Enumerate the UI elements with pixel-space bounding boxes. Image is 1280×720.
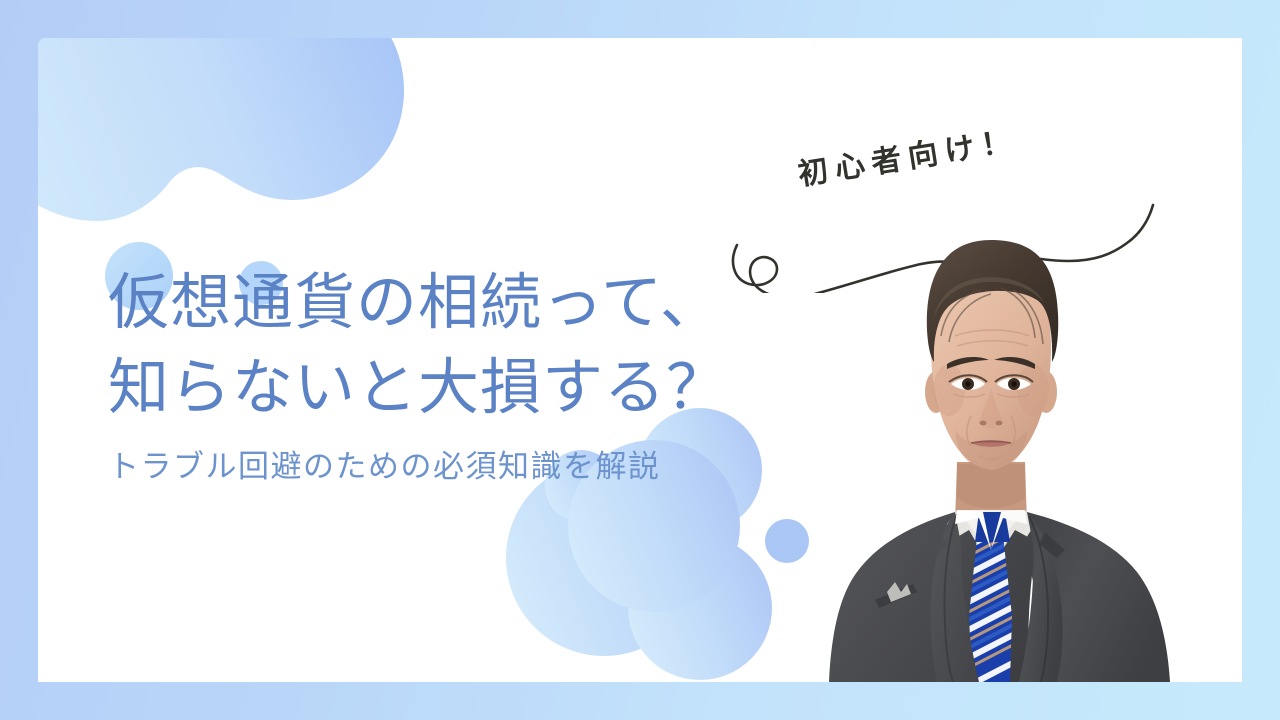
decor-circle-bottom-small (765, 519, 809, 563)
content-card: 仮想通貨の相続って、 知らないと大損する？ トラブル回避のための必須知識を解説 … (38, 38, 1242, 682)
subtitle: トラブル回避のための必須知識を解説 (108, 443, 808, 491)
badge-text: 初心者向け！ (795, 116, 1021, 194)
headline-line-1: 仮想通貨の相続って、 (108, 260, 808, 345)
headline-block: 仮想通貨の相続って、 知らないと大損する？ トラブル回避のための必須知識を解説 (108, 260, 808, 491)
headline-line-2: 知らないと大損する？ (108, 345, 808, 430)
portrait-photo (829, 212, 1174, 682)
